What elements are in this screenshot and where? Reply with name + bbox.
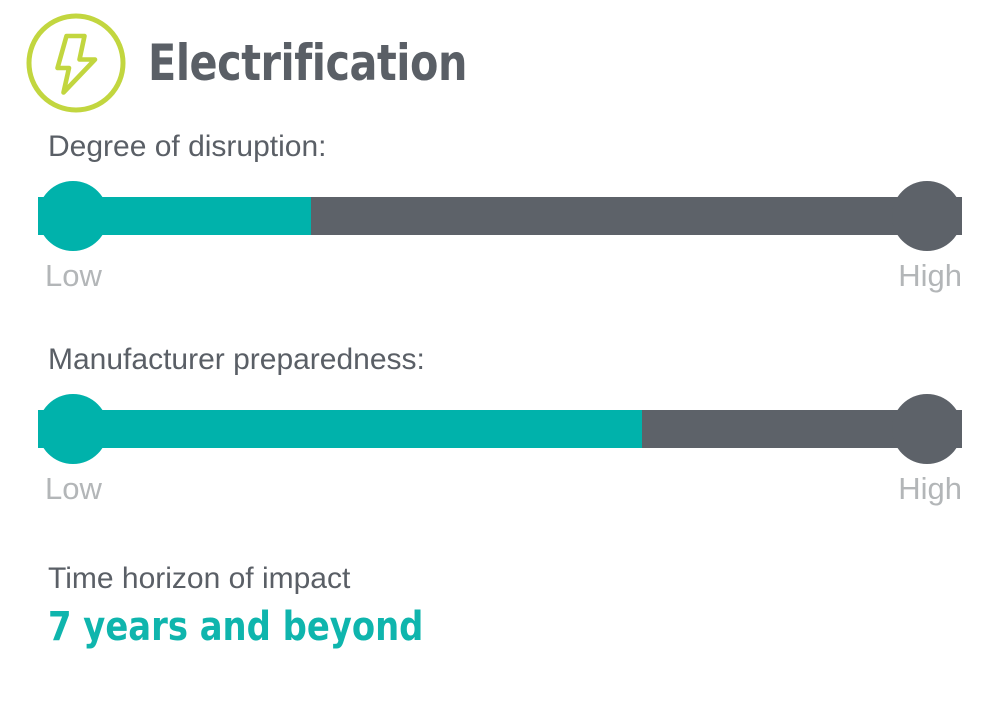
time-horizon-value: 7 years and beyond — [48, 605, 894, 649]
scale-label-high: High — [898, 257, 962, 294]
time-horizon-label: Time horizon of impact — [48, 562, 948, 597]
page-title: Electrification — [148, 38, 467, 88]
lightning-bolt-icon — [22, 9, 130, 117]
slider-scale: Low High — [38, 257, 962, 301]
metric-label: Degree of disruption: — [48, 130, 1000, 163]
page-header: Electrification — [22, 8, 495, 118]
scale-label-low: Low — [45, 470, 102, 507]
slider-knob-end[interactable] — [892, 394, 962, 464]
metric-degree-of-disruption: Degree of disruption: Low High — [0, 130, 1000, 301]
metric-manufacturer-preparedness: Manufacturer preparedness: Low High — [0, 343, 1000, 514]
slider-scale: Low High — [38, 470, 962, 514]
time-horizon-section: Time horizon of impact 7 years and beyon… — [48, 562, 948, 649]
slider-knob-end[interactable] — [892, 181, 962, 251]
scale-label-low: Low — [45, 257, 102, 294]
scale-label-high: High — [898, 470, 962, 507]
slider-knob-start[interactable] — [38, 394, 108, 464]
slider-knob-start[interactable] — [38, 181, 108, 251]
slider-fill — [38, 410, 642, 448]
metric-label: Manufacturer preparedness: — [48, 343, 1000, 376]
preparedness-slider[interactable] — [38, 394, 962, 464]
disruption-slider[interactable] — [38, 181, 962, 251]
